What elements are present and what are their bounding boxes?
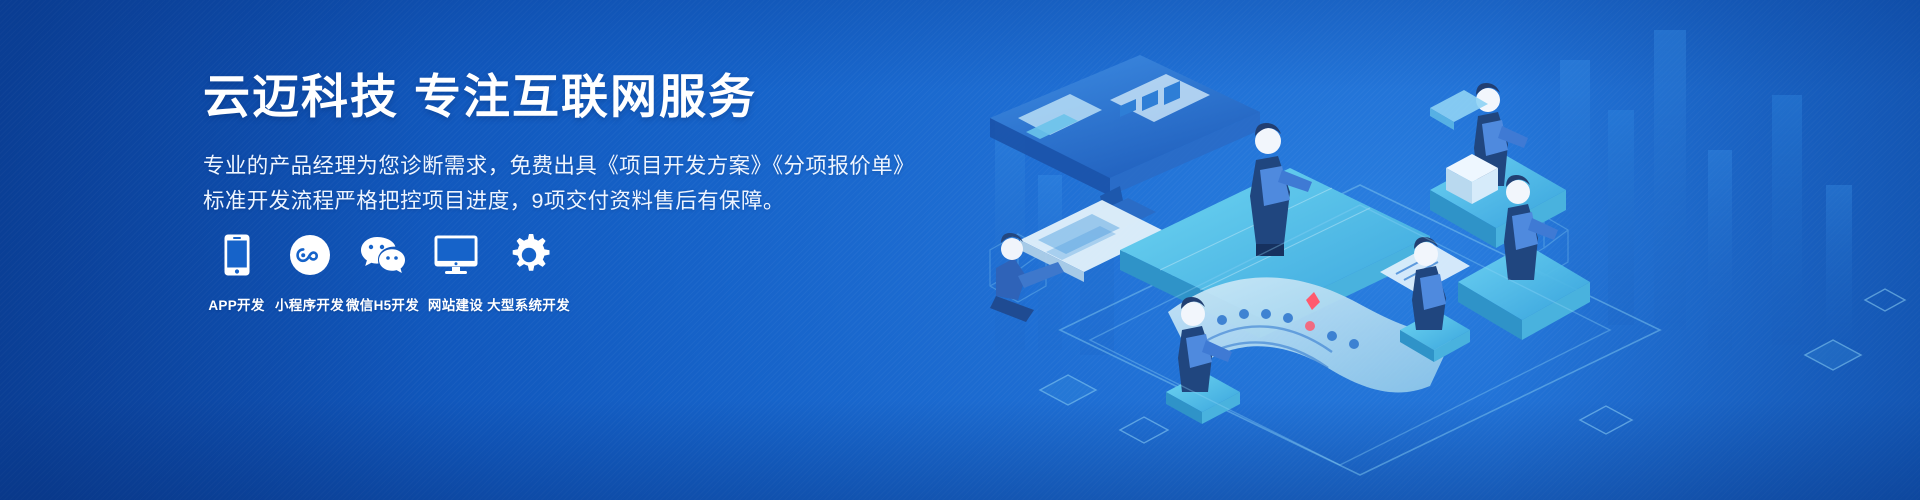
hero-banner: 云迈科技 专注互联网服务 专业的产品经理为您诊断需求，免费出具《项目开发方案》《… bbox=[0, 0, 1920, 500]
banner-subtitle: 专业的产品经理为您诊断需求，免费出具《项目开发方案》《分项报价单》 标准开发流程… bbox=[203, 149, 903, 219]
wechat-icon bbox=[360, 232, 406, 278]
service-item-mini-program[interactable]: 小程序开发 bbox=[273, 232, 346, 314]
service-item-website[interactable]: 网站建设 bbox=[419, 232, 492, 314]
service-label: 微信H5开发 bbox=[346, 294, 419, 314]
service-item-app[interactable]: APP开发 bbox=[200, 232, 273, 314]
service-label: 小程序开发 bbox=[275, 294, 344, 314]
service-list: APP开发 小程序开发 bbox=[200, 232, 565, 314]
subtitle-line-2: 标准开发流程严格把控项目进度，9项交付资料售后有保障。 bbox=[203, 184, 903, 219]
isometric-team-dashboard-illustration bbox=[960, 0, 1920, 500]
service-label: 大型系统开发 bbox=[487, 294, 570, 314]
gear-icon bbox=[508, 232, 550, 278]
mobile-phone-icon bbox=[224, 232, 250, 278]
service-label: 网站建设 bbox=[428, 294, 483, 314]
page-title: 云迈科技 专注互联网服务 bbox=[203, 68, 903, 127]
service-label: APP开发 bbox=[208, 294, 264, 314]
mini-program-icon bbox=[290, 232, 330, 278]
service-item-enterprise-system[interactable]: 大型系统开发 bbox=[492, 232, 565, 314]
banner-content: 云迈科技 专注互联网服务 专业的产品经理为您诊断需求，免费出具《项目开发方案》《… bbox=[203, 68, 903, 218]
service-item-wechat[interactable]: 微信H5开发 bbox=[346, 232, 419, 314]
subtitle-line-1: 专业的产品经理为您诊断需求，免费出具《项目开发方案》《分项报价单》 bbox=[203, 149, 903, 184]
monitor-icon bbox=[434, 232, 478, 278]
